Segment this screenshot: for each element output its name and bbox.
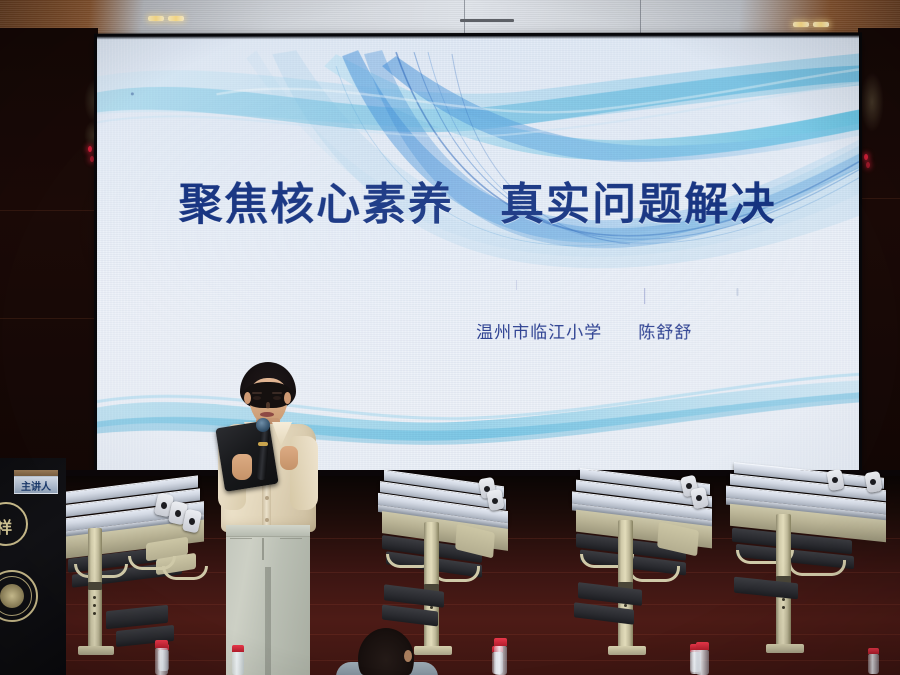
ceiling-grain-texture xyxy=(0,0,900,34)
speaker-badge-label: 主讲人 xyxy=(21,478,51,493)
banner-seal-core xyxy=(0,584,24,608)
indicator-light xyxy=(866,162,870,168)
ceiling-light xyxy=(168,16,184,21)
water-bottle-cap xyxy=(155,640,168,648)
water-bottle xyxy=(155,648,168,675)
slide-tick-mark xyxy=(516,280,517,290)
water-bottle-cap xyxy=(494,638,507,646)
ceiling-seam xyxy=(464,0,465,34)
slide-speck xyxy=(131,92,134,95)
ceiling-seam xyxy=(640,0,641,34)
presenter-ear xyxy=(284,392,291,404)
water-bottle xyxy=(494,646,507,675)
ceiling-light xyxy=(813,22,829,27)
microphone-head xyxy=(256,418,270,432)
wall-seam xyxy=(858,198,900,199)
right-wall xyxy=(858,28,900,478)
water-bottle-cap xyxy=(696,642,709,650)
slide-speck xyxy=(736,288,738,296)
presenter-trouser-fly xyxy=(262,538,264,560)
presenter-right-hand xyxy=(280,446,298,470)
desk-row-right xyxy=(716,470,900,675)
microphone-ring xyxy=(258,442,268,446)
presenter-ear xyxy=(244,392,251,404)
ceiling-slot xyxy=(460,19,514,22)
slide-title: 聚焦核心素养 真实问题解决 xyxy=(97,168,859,232)
presenter-trouser-pocket xyxy=(280,538,302,554)
banner-emblem-char: 祥 xyxy=(0,514,12,538)
presenter-shirt-button xyxy=(265,518,269,522)
slide-tick-mark xyxy=(644,288,645,304)
water-bottle xyxy=(696,650,709,675)
ceiling-light xyxy=(793,22,809,27)
presenter-eyebrow xyxy=(252,392,262,394)
presenter-trouser-seam xyxy=(265,567,271,675)
presenter-eye xyxy=(273,396,281,400)
presenter-figure xyxy=(196,362,338,675)
presenter-mouth xyxy=(260,412,274,417)
ceiling-light xyxy=(148,16,164,21)
indicator-light xyxy=(864,154,868,160)
presenter-shirt-button xyxy=(265,496,269,500)
slide-subtitle: 温州市临江小学 陈舒舒 xyxy=(97,298,859,363)
presenter-eyebrow xyxy=(272,392,282,394)
presenter-nose xyxy=(266,402,270,409)
presenter-waistband xyxy=(226,525,310,537)
seated-audience-ear xyxy=(404,650,412,662)
slide-subtitle-text: 温州市临江小学 陈舒舒 xyxy=(257,318,693,343)
presenter-left-hand xyxy=(232,454,252,480)
indicator-light xyxy=(88,146,92,152)
auditorium-photo-scene: 聚焦核心素养 真实问题解决 温州市临江小学 陈舒舒 xyxy=(0,0,900,675)
speaker-banner: 主讲人 祥 xyxy=(0,458,66,675)
wall-seam xyxy=(0,210,98,211)
wall-reflection xyxy=(860,72,884,132)
presenter-eye xyxy=(253,396,261,400)
left-wall xyxy=(0,28,98,478)
speaker-badge: 主讲人 xyxy=(14,476,58,494)
water-bottle xyxy=(232,652,244,675)
wall-seam xyxy=(0,318,98,319)
water-bottle-cap xyxy=(232,645,244,652)
indicator-light xyxy=(90,156,94,162)
